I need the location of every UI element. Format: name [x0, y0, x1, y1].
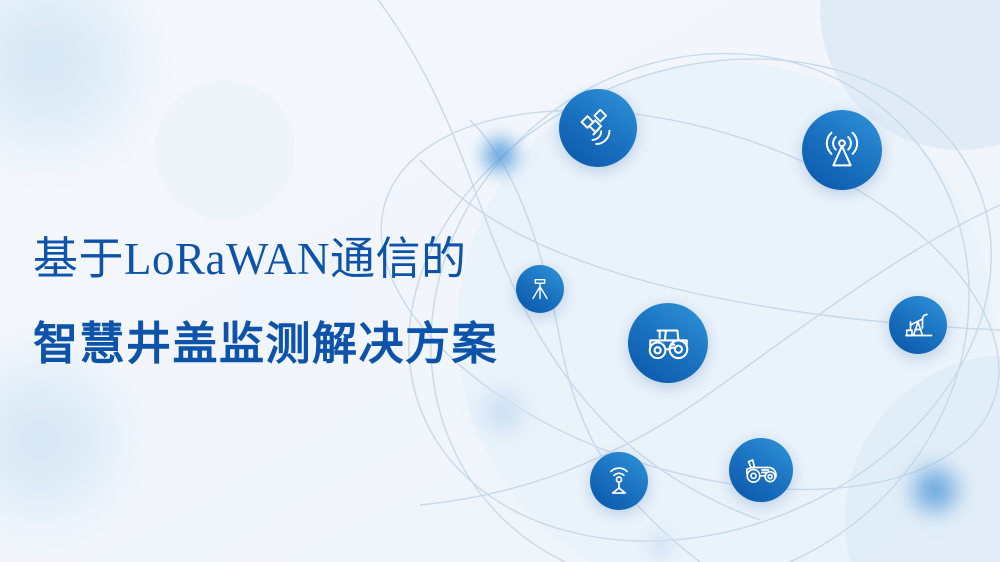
- tractor-icon: [643, 318, 693, 368]
- glow-dot-mid: [474, 129, 526, 181]
- node-wireless-sensor[interactable]: [590, 452, 648, 510]
- soft-sphere-small-upper: [155, 80, 295, 220]
- slide-canvas: 基于LoRaWAN通信的 智慧井盖监测解决方案: [0, 0, 1000, 562]
- title-line-1: 基于LoRaWAN通信的: [33, 228, 593, 290]
- node-oil-pumpjack[interactable]: [889, 296, 947, 354]
- title-line-2: 智慧井盖监测解决方案: [33, 313, 593, 375]
- node-tractor[interactable]: [628, 303, 708, 383]
- harvester-icon: [741, 450, 781, 490]
- title-block: 基于LoRaWAN通信的 智慧井盖监测解决方案: [33, 228, 593, 375]
- node-radio-tower[interactable]: [802, 110, 882, 190]
- radio-tower-icon: [819, 127, 865, 173]
- wireless-sensor-icon: [602, 464, 636, 498]
- satellite-icon: [576, 106, 620, 150]
- glow-dot-pale: [467, 376, 539, 448]
- glow-dot-lower: [899, 454, 971, 526]
- node-satellite[interactable]: [559, 89, 637, 167]
- oil-pumpjack-icon: [900, 307, 936, 343]
- node-harvester[interactable]: [729, 438, 793, 502]
